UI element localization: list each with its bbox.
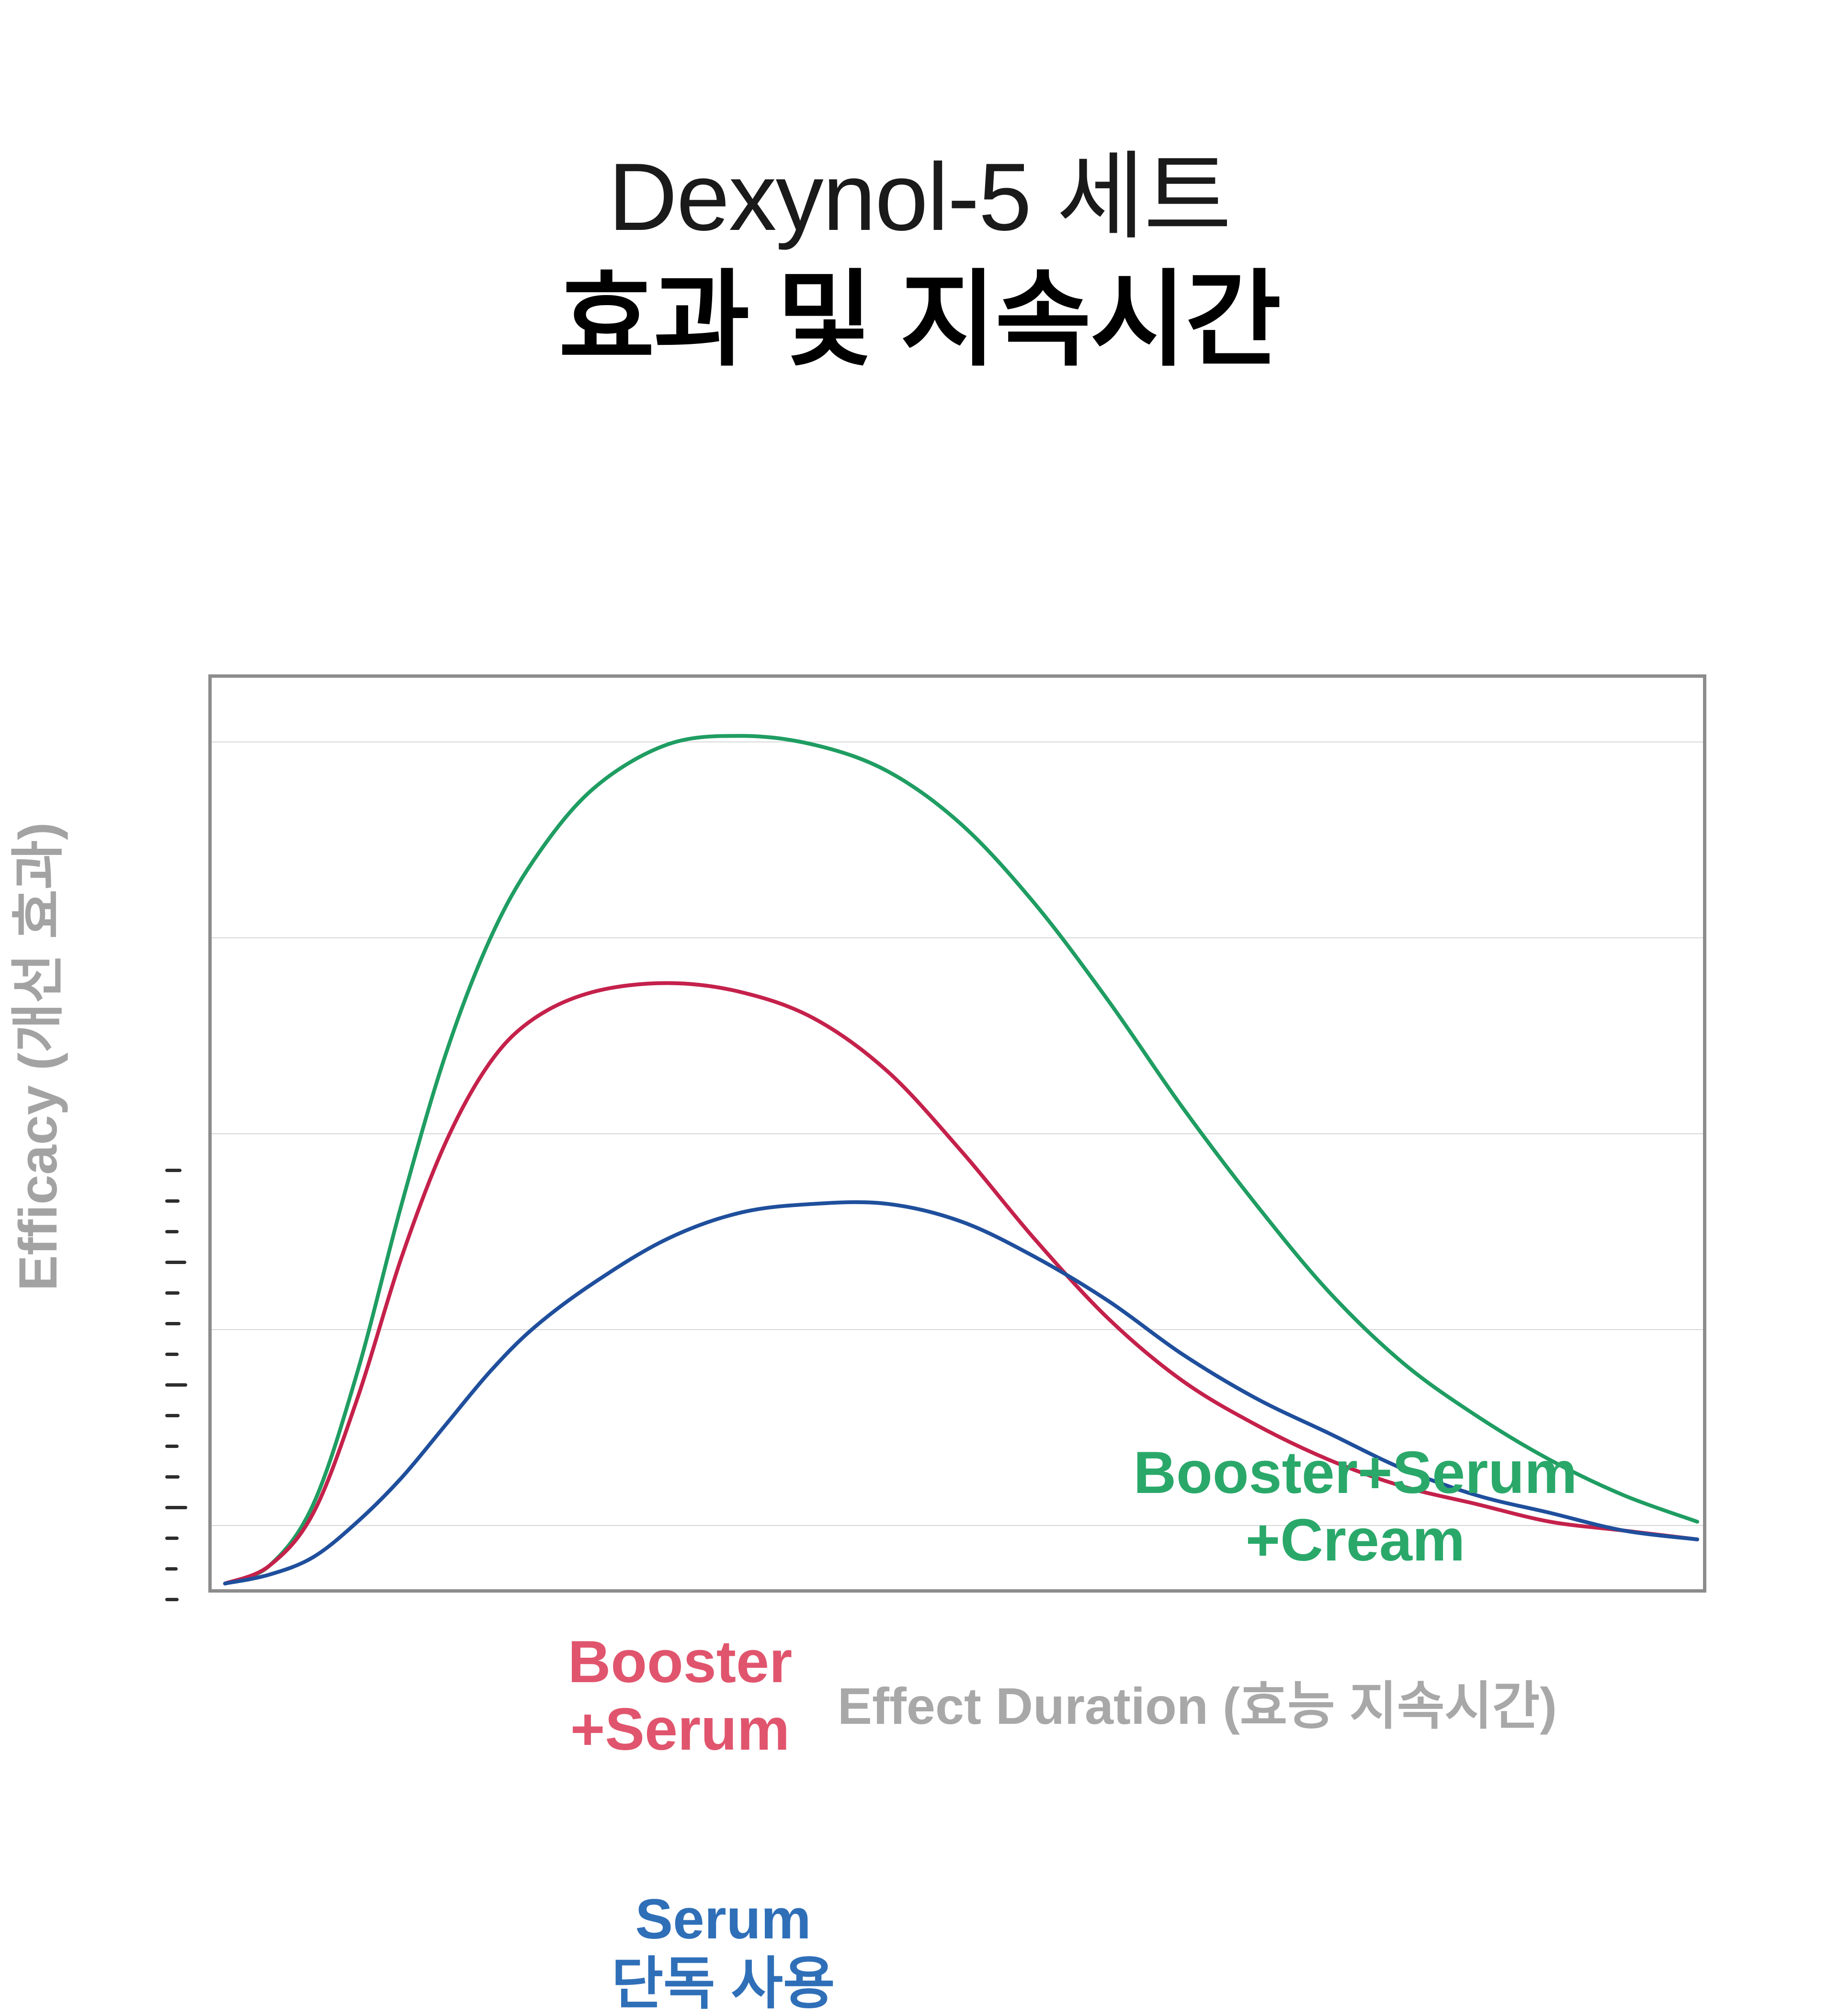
y-axis-tick <box>165 1567 178 1571</box>
series-label-booster-serum-cream: Booster+Serum +Cream <box>1116 1439 1595 1575</box>
y-axis-tick-marks <box>165 1169 184 1600</box>
y-axis-tick <box>165 1445 179 1448</box>
chart-region: Efficacy (개선 효과) Booster+Serum +Cream Bo… <box>0 604 1839 1777</box>
y-axis-tick <box>165 1506 187 1509</box>
y-axis-title: Efficacy (개선 효과) <box>0 683 72 1430</box>
y-axis-tick <box>165 1230 179 1233</box>
y-axis-tick <box>165 1383 187 1387</box>
y-axis-tick <box>165 1169 182 1172</box>
y-axis-tick <box>165 1537 179 1540</box>
y-axis-tick <box>165 1414 180 1417</box>
series-label-serum-only: Serum 단독 사용 <box>599 1887 848 2016</box>
title-block: Dexynol-5 세트 효과 및 지속시간 <box>0 144 1839 382</box>
y-axis-tick <box>165 1598 179 1601</box>
page-title-secondary: 효과 및 지속시간 <box>0 259 1839 382</box>
y-axis-tick <box>165 1353 179 1356</box>
y-axis-tick <box>165 1322 181 1325</box>
y-axis-tick <box>165 1261 186 1264</box>
page-title-primary: Dexynol-5 세트 <box>0 144 1839 251</box>
y-axis-tick <box>165 1475 180 1479</box>
x-axis-title: Effect Duration (효능 지속시간) <box>647 1664 1748 1739</box>
y-axis-tick <box>165 1199 180 1203</box>
y-axis-tick <box>165 1291 180 1295</box>
